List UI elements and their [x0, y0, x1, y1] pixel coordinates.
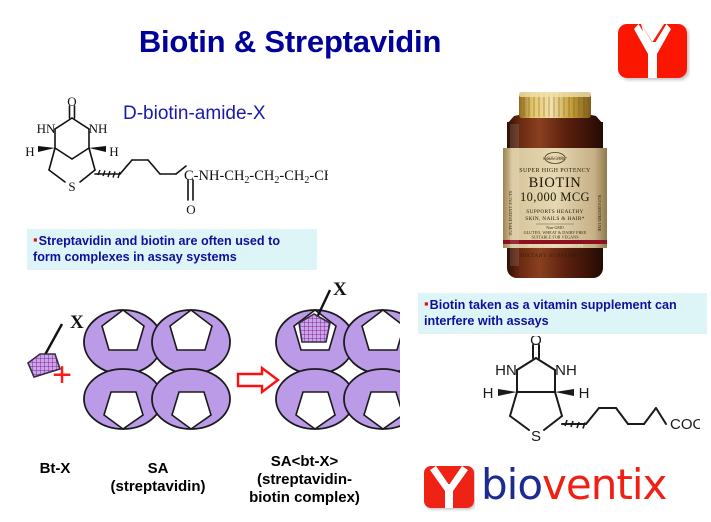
svg-text:10,000 MCG: 10,000 MCG — [520, 190, 590, 204]
atom-label-o-top: O — [67, 96, 76, 109]
atom-label-cooh: COOH — [670, 416, 700, 433]
atom-label-hn-left: HN — [495, 362, 517, 379]
atom-label-sulfur: S — [531, 428, 541, 445]
atom-label-o-bottom: O — [186, 202, 195, 217]
label-complex-line2: (streptavidin- — [227, 471, 382, 489]
y-logo — [615, 20, 690, 82]
callout-streptavidin-biotin-complexes: ▪Streptavidin and biotin are often used … — [27, 229, 317, 270]
svg-text:SKIN, NAILS & HAIR*: SKIN, NAILS & HAIR* — [525, 216, 585, 222]
callout-text: Biotin taken as a vitamin supplement can… — [424, 298, 677, 328]
label-sa-bt-x-complex: SA<bt-X> (streptavidin- biotin complex) — [227, 453, 382, 507]
bioventix-wordmark: bioventix — [481, 460, 666, 509]
label-sa: SA (streptavidin) — [93, 460, 223, 496]
svg-text:BIOTIN: BIOTIN — [529, 175, 582, 191]
bioventix-logo: bioventix — [423, 462, 688, 514]
chemical-structure-biotin: O HN NH H H S COOH — [470, 336, 700, 451]
label-x-bound: X — [333, 282, 347, 300]
reaction-diagram: X + — [0, 282, 400, 452]
atom-label-nh-right: NH — [555, 362, 577, 379]
streptavidin-biotin-complex: X — [276, 282, 400, 429]
plus-sign: + — [52, 356, 72, 394]
atom-label-o-top: O — [530, 336, 542, 349]
streptavidin-tetramer — [84, 310, 230, 429]
svg-text:SOLGAR: SOLGAR — [547, 156, 563, 161]
callout-biotin-interference: ▪Biotin taken as a vitamin supplement ca… — [418, 293, 707, 334]
svg-text:SUPER HIGH POTENCY: SUPER HIGH POTENCY — [519, 168, 591, 174]
bioventix-mark-icon — [423, 464, 475, 512]
svg-text:SUPPORTS HEALTHY: SUPPORTS HEALTHY — [526, 209, 583, 215]
label-x-free: X — [70, 312, 84, 333]
bioventix-word-bio: bio — [481, 460, 542, 509]
bullet-square-icon: ▪ — [33, 235, 38, 245]
bioventix-word-ventix: ventix — [542, 460, 666, 509]
amide-chain-text: C-NH-CH2-CH2-CH2-CH2-X — [184, 168, 328, 186]
label-sa-line2: (streptavidin) — [93, 478, 223, 496]
label-complex-line3: biotin complex) — [227, 489, 382, 507]
atom-label-h-left: H — [25, 144, 34, 159]
label-sa-line1: SA — [93, 460, 223, 478]
label-complex-line1: SA<bt-X> — [227, 453, 382, 471]
atom-label-h-left: H — [483, 385, 494, 402]
page-title: Biotin & Streptavidin — [0, 24, 580, 60]
svg-text:DIETARY SUPPLEMENT: DIETARY SUPPLEMENT — [520, 253, 590, 259]
svg-text:SUITABLE FOR VEGANS: SUITABLE FOR VEGANS — [531, 235, 579, 240]
atom-label-hn-left: HN — [37, 121, 56, 136]
chemical-structure-d-biotin-amide-x: HN NH O H H S O C-NH-CH2-CH2-CH2-CH2-X — [8, 96, 328, 226]
atom-label-h-right: H — [109, 144, 118, 159]
svg-text:120 VEGETABLE CAPSULES: 120 VEGETABLE CAPSULES — [527, 243, 584, 248]
atom-label-nh-right: NH — [89, 121, 108, 136]
biotin-supplement-bottle-image: Since 1947 SOLGAR SUPER HIGH POTENCY BIO… — [494, 88, 616, 280]
bullet-square-icon: ▪ — [424, 299, 429, 309]
svg-text:SUGGESTED USE: SUGGESTED USE — [597, 195, 602, 232]
atom-label-h-right: H — [579, 385, 590, 402]
atom-label-sulfur: S — [68, 179, 75, 194]
reaction-arrow-icon — [238, 368, 278, 392]
callout-text: Streptavidin and biotin are often used t… — [33, 234, 280, 264]
